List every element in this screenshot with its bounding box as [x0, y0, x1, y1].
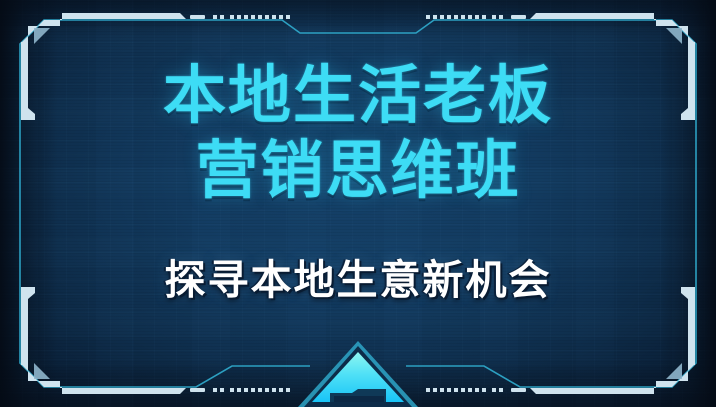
title-line-1: 本地生活老板 [163, 64, 553, 127]
poster-title: 本地生活老板 营销思维班 [163, 64, 553, 202]
poster-content: 本地生活老板 营销思维班 探寻本地生意新机会 [0, 0, 716, 407]
poster-subtitle: 探寻本地生意新机会 [165, 246, 552, 306]
title-line-2: 营销思维班 [163, 139, 553, 202]
poster-canvas: 本地生活老板 营销思维班 探寻本地生意新机会 [0, 0, 716, 407]
